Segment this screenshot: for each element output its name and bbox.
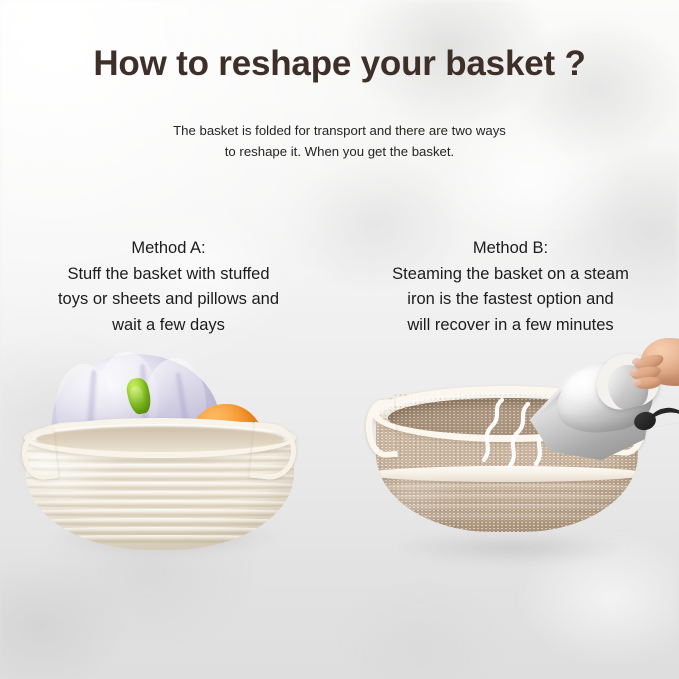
- steam-iron-icon: [522, 356, 679, 486]
- fingernail: [632, 379, 641, 387]
- method-b-text-block: Method B: Steaming the basket on a steam…: [348, 236, 673, 338]
- background-bokeh-texture: [0, 0, 679, 679]
- method-b-photo: [366, 372, 666, 572]
- method-a-line-1: Stuff the basket with stuffed: [6, 262, 331, 288]
- method-a-line-2: toys or sheets and pillows and: [6, 287, 331, 313]
- method-a-photo: [24, 352, 324, 567]
- page-title: How to reshape your basket ?: [0, 44, 679, 84]
- method-a-heading: Method A:: [6, 236, 331, 262]
- page-subtitle: The basket is folded for transport and t…: [0, 120, 679, 162]
- method-a-line-3: wait a few days: [6, 313, 331, 339]
- basket-b-handle-left: [364, 399, 398, 459]
- infographic-canvas: How to reshape your basket ? The basket …: [0, 0, 679, 679]
- method-b-line-3: will recover in a few minutes: [348, 313, 673, 339]
- subtitle-line-2: to reshape it. When you get the basket.: [0, 141, 679, 162]
- method-b-line-1: Steaming the basket on a steam: [348, 262, 673, 288]
- method-a-text-block: Method A: Stuff the basket with stuffed …: [6, 236, 331, 338]
- method-b-line-2: iron is the fastest option and: [348, 287, 673, 313]
- method-b-heading: Method B:: [348, 236, 673, 262]
- hand-icon: [618, 338, 679, 400]
- basket-b-drop-shadow: [390, 532, 630, 564]
- subtitle-line-1: The basket is folded for transport and t…: [0, 120, 679, 141]
